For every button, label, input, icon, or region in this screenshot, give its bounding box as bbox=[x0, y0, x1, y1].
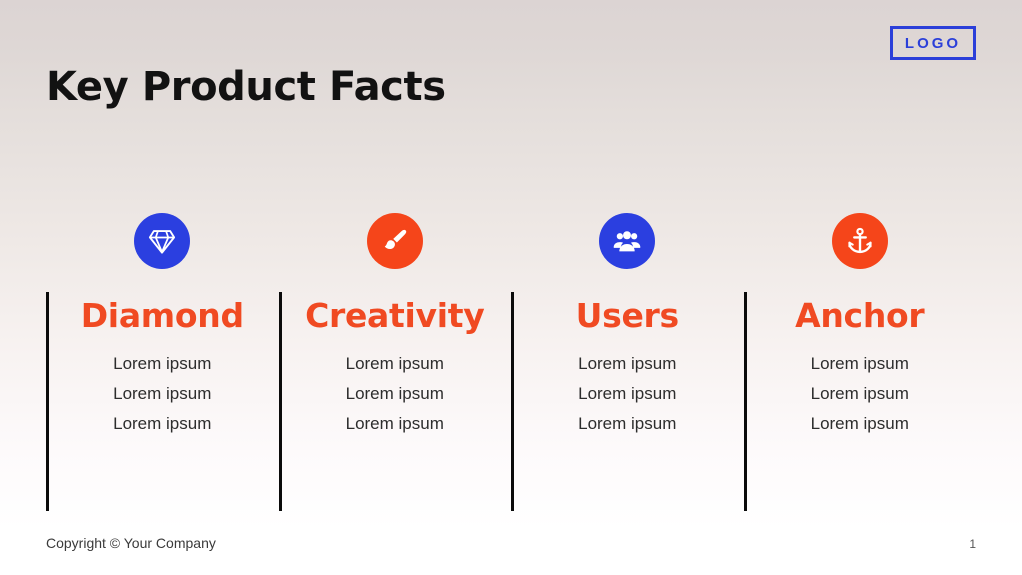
page-title: Key Product Facts bbox=[46, 65, 446, 109]
footer-copyright: Copyright © Your Company bbox=[46, 535, 216, 551]
list-item: Lorem ipsum bbox=[346, 349, 444, 379]
list-item: Lorem ipsum bbox=[346, 409, 444, 439]
list-item: Lorem ipsum bbox=[113, 409, 211, 439]
logo-badge[interactable]: LOGO bbox=[890, 26, 976, 60]
fact-column-anchor: Anchor Lorem ipsum Lorem ipsum Lorem ips… bbox=[744, 206, 977, 516]
anchor-icon[interactable] bbox=[832, 213, 888, 269]
list-item: Lorem ipsum bbox=[578, 379, 676, 409]
slide-canvas: LOGO Key Product Facts Diamond Lorem ips… bbox=[0, 0, 1022, 575]
page-number: 1 bbox=[969, 537, 976, 551]
list-item: Lorem ipsum bbox=[113, 349, 211, 379]
diamond-icon[interactable] bbox=[134, 213, 190, 269]
column-items: Lorem ipsum Lorem ipsum Lorem ipsum bbox=[811, 349, 909, 439]
list-item: Lorem ipsum bbox=[811, 409, 909, 439]
paintbrush-icon[interactable] bbox=[367, 213, 423, 269]
logo-text: LOGO bbox=[905, 35, 961, 52]
facts-columns: Diamond Lorem ipsum Lorem ipsum Lorem ip… bbox=[46, 206, 976, 516]
column-items: Lorem ipsum Lorem ipsum Lorem ipsum bbox=[113, 349, 211, 439]
fact-column-diamond: Diamond Lorem ipsum Lorem ipsum Lorem ip… bbox=[46, 206, 279, 516]
fact-column-creativity: Creativity Lorem ipsum Lorem ipsum Lorem… bbox=[279, 206, 512, 516]
list-item: Lorem ipsum bbox=[346, 379, 444, 409]
column-heading: Users bbox=[576, 297, 679, 335]
column-divider bbox=[511, 292, 514, 511]
column-items: Lorem ipsum Lorem ipsum Lorem ipsum bbox=[346, 349, 444, 439]
list-item: Lorem ipsum bbox=[811, 379, 909, 409]
column-heading: Diamond bbox=[81, 297, 244, 335]
fact-column-users: Users Lorem ipsum Lorem ipsum Lorem ipsu… bbox=[511, 206, 744, 516]
column-items: Lorem ipsum Lorem ipsum Lorem ipsum bbox=[578, 349, 676, 439]
column-heading: Anchor bbox=[795, 297, 924, 335]
column-heading: Creativity bbox=[305, 297, 484, 335]
column-divider bbox=[279, 292, 282, 511]
column-divider bbox=[744, 292, 747, 511]
list-item: Lorem ipsum bbox=[113, 379, 211, 409]
list-item: Lorem ipsum bbox=[811, 349, 909, 379]
list-item: Lorem ipsum bbox=[578, 409, 676, 439]
users-icon[interactable] bbox=[599, 213, 655, 269]
list-item: Lorem ipsum bbox=[578, 349, 676, 379]
column-divider bbox=[46, 292, 49, 511]
